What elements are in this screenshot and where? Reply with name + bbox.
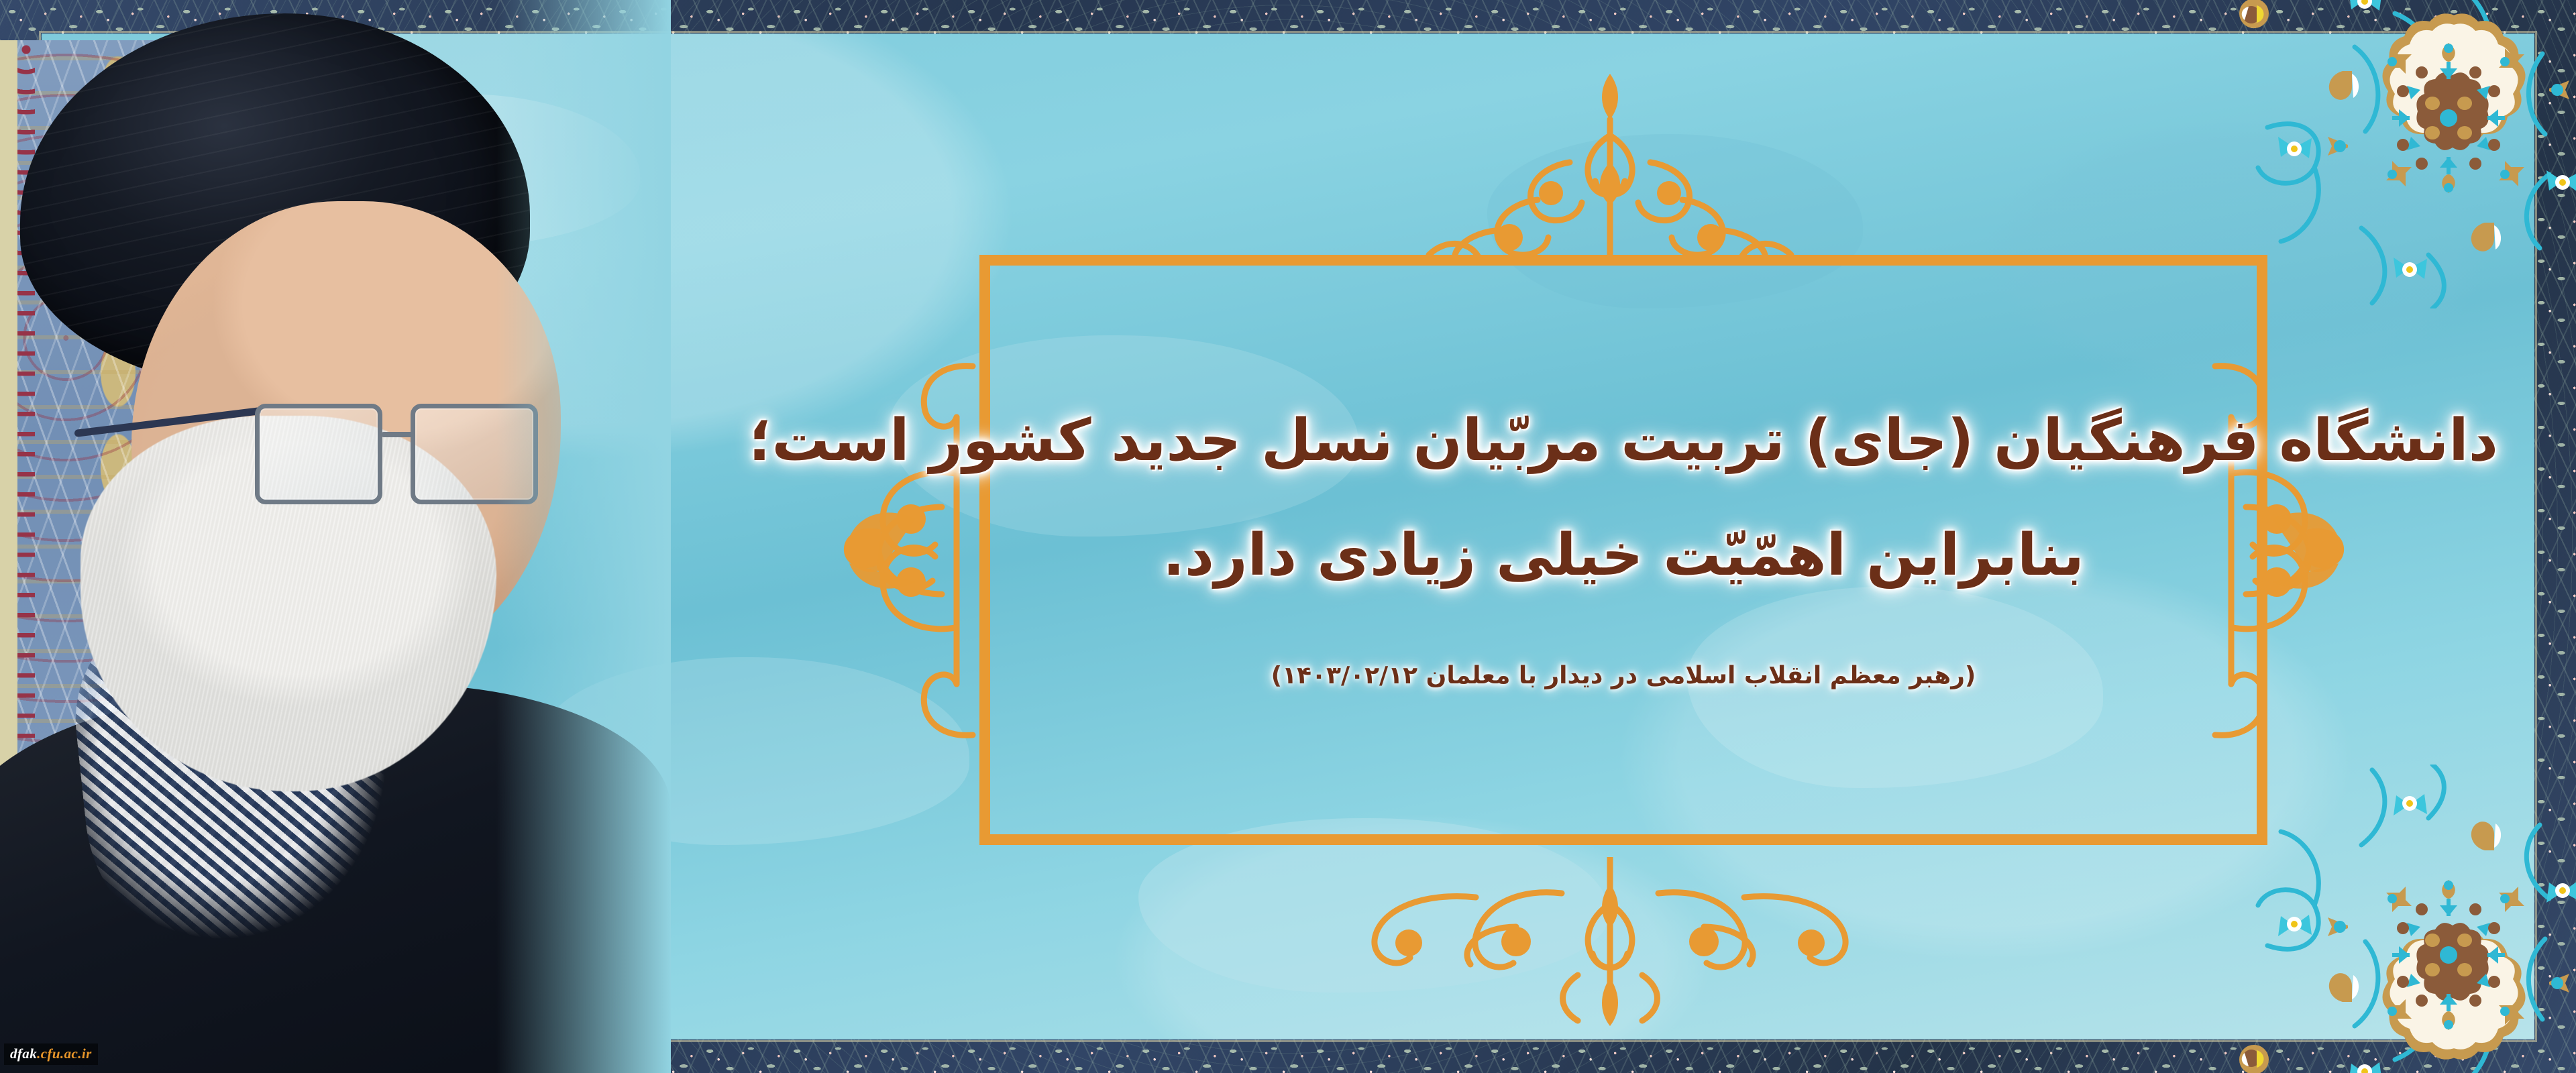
quote-attribution: (رهبر معظم انقلاب اسلامی در دیدار با معل… bbox=[1271, 662, 1976, 689]
watermark-suffix: .cfu.ac.ir bbox=[37, 1046, 92, 1062]
site-watermark: dfak.cfu.ac.ir bbox=[4, 1043, 98, 1065]
glasses-lens-right bbox=[411, 404, 538, 504]
portrait bbox=[0, 0, 671, 1073]
quote-block: دانشگاه فرهنگیان (جای) تربیت مربّیان نسل… bbox=[1006, 288, 2241, 811]
watermark-prefix: dfak bbox=[10, 1046, 37, 1062]
banner-root: دانشگاه فرهنگیان (جای) تربیت مربّیان نسل… bbox=[0, 0, 2576, 1073]
quote-line-1: دانشگاه فرهنگیان (جای) تربیت مربّیان نسل… bbox=[749, 409, 2498, 473]
glasses-lens-left bbox=[255, 404, 382, 504]
glasses-bridge bbox=[381, 432, 413, 437]
glasses-icon bbox=[255, 389, 543, 516]
quote-line-2: بنابراین اهمّیّت خیلی زیادی دارد. bbox=[1163, 524, 2084, 587]
